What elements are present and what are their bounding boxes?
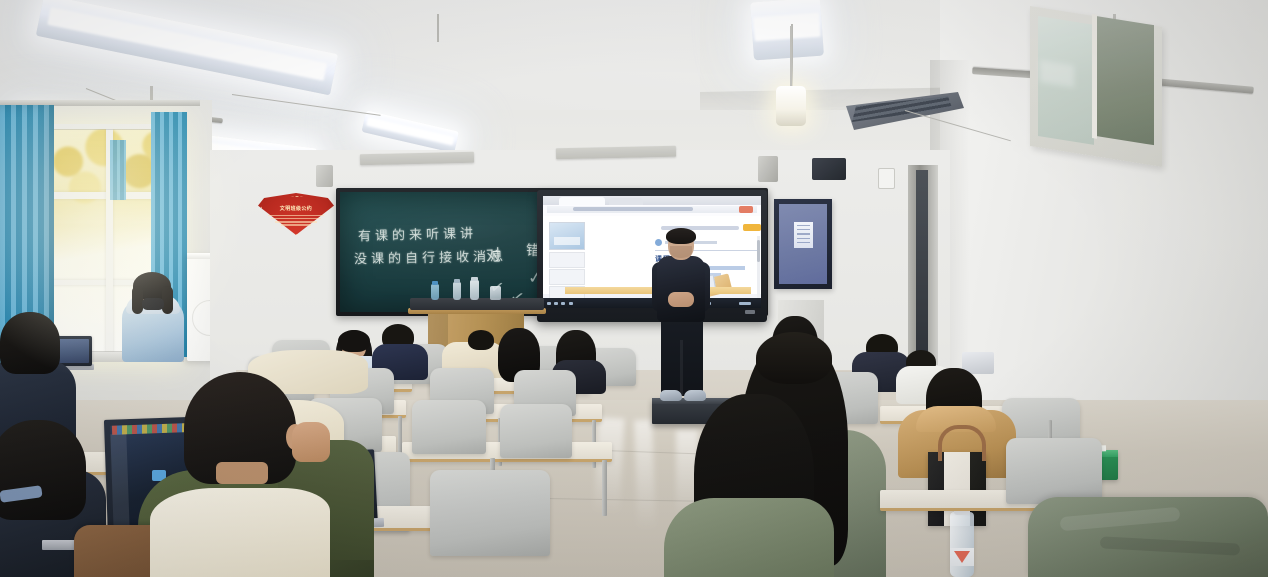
lecture-seat[interactable] xyxy=(430,470,550,556)
lecture-seat[interactable] xyxy=(412,400,486,454)
plaque-text-lines xyxy=(268,213,324,227)
posted-notice xyxy=(794,222,813,248)
taskbar-icon[interactable] xyxy=(554,302,558,306)
water-bottle-clear xyxy=(453,282,461,300)
laptop-sidebar xyxy=(110,434,129,530)
lecture-seat[interactable] xyxy=(1006,438,1102,504)
neck-scarf xyxy=(142,298,164,310)
water-bottle-white xyxy=(470,280,479,300)
instructor-face-shadow xyxy=(670,246,692,258)
avatar xyxy=(655,239,662,246)
plaque-title: 文明班级公约 xyxy=(272,205,320,212)
sidebar-thumbnail[interactable] xyxy=(549,222,585,250)
instructor-shoe-right xyxy=(684,390,706,401)
bottle-cap xyxy=(432,281,438,285)
wall-equipment-box xyxy=(812,158,846,180)
student-hair xyxy=(338,330,370,352)
browser-action-button[interactable] xyxy=(739,206,753,213)
ceiling-wire xyxy=(437,14,439,42)
highlight-badge xyxy=(743,224,761,231)
instructor-hands xyxy=(668,292,694,307)
sidebar-row[interactable] xyxy=(549,269,585,285)
handbag-side-left xyxy=(928,452,944,526)
ceiling-wire xyxy=(790,26,792,86)
taskbar-clock[interactable] xyxy=(739,302,751,306)
water-bottle-label xyxy=(950,548,974,566)
browser-tab-active[interactable] xyxy=(559,197,605,205)
wall-speaker-left xyxy=(316,165,333,187)
instructor-shoe-left xyxy=(660,390,682,401)
pendant-lamp xyxy=(776,86,806,126)
taskbar-icon[interactable] xyxy=(569,302,573,306)
student-hair-top xyxy=(756,332,832,384)
floor-reflection xyxy=(634,420,656,531)
student-hair xyxy=(0,312,60,374)
curtain-far[interactable] xyxy=(110,140,126,200)
student-hair xyxy=(0,420,86,520)
browser-tab-inactive[interactable] xyxy=(609,198,643,205)
browser-url-text xyxy=(573,207,693,211)
sidebar-row[interactable] xyxy=(549,252,585,268)
lecture-seat[interactable] xyxy=(500,404,572,458)
wall-speaker-right xyxy=(758,156,778,182)
cloth-draped xyxy=(150,488,330,577)
bottle-cap xyxy=(471,277,478,281)
light-switch-panel[interactable] xyxy=(878,168,895,189)
display-brand-logo xyxy=(745,310,755,314)
instructor-torso xyxy=(657,256,705,322)
water-bottle-blue xyxy=(431,284,439,300)
student-hand xyxy=(292,422,330,462)
instructor-leg-gap xyxy=(680,340,683,396)
fluorescent-tube-light-4 xyxy=(750,0,824,60)
water-bottle xyxy=(950,512,974,577)
scrollbar-thumb[interactable] xyxy=(757,240,760,262)
bottle-cap xyxy=(454,279,460,283)
taskbar-icon[interactable] xyxy=(561,302,565,306)
taskbar-icon[interactable] xyxy=(547,302,551,306)
drinking-cup xyxy=(490,286,501,300)
desk-leg xyxy=(602,460,607,516)
classroom-photo: 文明班级公约 有课的来听课讲 没课的自行接收消息 对 错 ✓ ✓ ✓ ↗ ↗ xyxy=(0,0,1268,577)
student-sage-coat xyxy=(664,498,834,577)
student-hair xyxy=(468,330,494,350)
interior-window-sash[interactable] xyxy=(1092,14,1097,139)
interior-window-glass-right xyxy=(1096,16,1154,145)
student-hair-side xyxy=(132,286,143,314)
doorway-opening xyxy=(916,170,928,360)
handbag-handle[interactable] xyxy=(938,425,986,461)
student-neck xyxy=(216,462,268,484)
instructor-hair xyxy=(666,228,696,244)
student-hair-side xyxy=(162,286,173,314)
